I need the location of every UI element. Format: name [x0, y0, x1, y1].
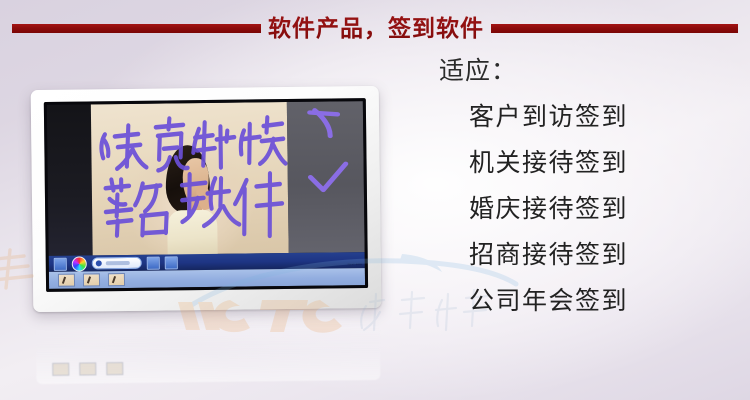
list-item: 公司年会签到 [469, 278, 745, 324]
person-body [168, 210, 218, 256]
color-wheel-icon[interactable] [72, 256, 87, 271]
signature-thumb-3[interactable] [108, 273, 125, 286]
product-monitor: Next Jilia [31, 86, 382, 312]
list-item: 招商接待签到 [469, 232, 745, 278]
list-item: 客户到访签到 [469, 94, 745, 140]
screen-thumbnail-tray[interactable] [49, 269, 365, 289]
page-title: 软件产品，签到软件 [261, 0, 491, 56]
reflection-thumb-3 [106, 362, 123, 375]
page-root: 软件产品，签到软件 [0, 0, 750, 400]
reflection-thumb-2 [79, 362, 96, 375]
check-mark-2 [311, 164, 347, 190]
tool-button-3[interactable] [165, 256, 178, 269]
tool-button-2[interactable] [147, 256, 160, 269]
monitor-reflection [36, 308, 381, 384]
reflection-thumb-1 [52, 363, 69, 376]
signature-thumb-2[interactable] [83, 274, 100, 287]
person-photo [162, 145, 222, 254]
monitor-bezel: Next Jilia [31, 86, 382, 312]
copy-column: 适应： 客户到访签到 机关接待签到 婚庆接待签到 招商接待签到 公司年会签到 [425, 54, 745, 324]
monitor-screen: Next Jilia [47, 101, 365, 289]
screen-tool-panel[interactable] [287, 101, 365, 253]
monitor-screen-frame: Next Jilia [44, 98, 368, 292]
copy-heading: 适应： [439, 54, 745, 88]
header-rule-right [491, 24, 738, 33]
reflection-thumbnails [52, 362, 123, 376]
page-header: 软件产品，签到软件 [0, 0, 750, 56]
screen-photo-area [91, 102, 289, 255]
applications-list: 客户到访签到 机关接待签到 婚庆接待签到 招商接待签到 公司年会签到 [425, 94, 745, 324]
list-item: 机关接待签到 [469, 140, 745, 186]
signature-thumb-1[interactable] [58, 274, 75, 287]
screen-left-strip [47, 104, 93, 255]
header-rule-left [12, 24, 261, 33]
tool-button-1[interactable] [54, 257, 67, 270]
screen-corner-text: Next Jilia [348, 262, 362, 266]
list-item: 婚庆接待签到 [469, 186, 745, 232]
pen-width-slider[interactable] [92, 257, 142, 270]
